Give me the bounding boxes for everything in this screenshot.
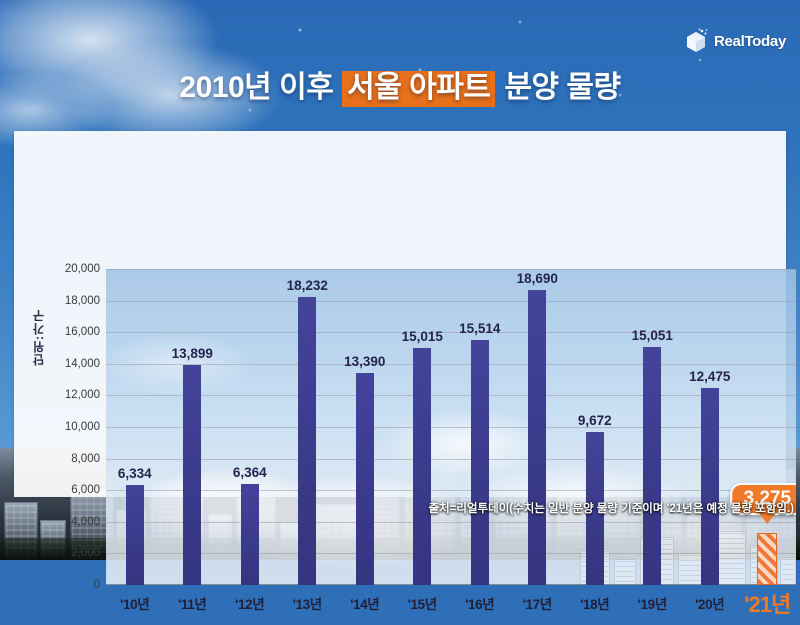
- bar-slot: 15,015: [394, 269, 452, 585]
- bar-value-label: 15,514: [459, 321, 500, 336]
- bar[interactable]: [241, 484, 259, 585]
- bar-slot: 6,364: [221, 269, 279, 585]
- bar-projected[interactable]: [757, 533, 777, 585]
- bar-slot: 18,232: [279, 269, 337, 585]
- bar-slot: 15,514: [451, 269, 509, 585]
- x-axis-tick: '16년: [465, 593, 494, 613]
- bar[interactable]: [471, 340, 489, 585]
- bar[interactable]: [298, 297, 316, 585]
- y-axis-tick: 14,000: [65, 358, 100, 370]
- title-text-0: 2010년 이후: [179, 71, 341, 104]
- bar-slot: 6,334: [106, 269, 164, 585]
- bar-value-label: 15,051: [632, 328, 673, 343]
- bar[interactable]: [126, 485, 144, 585]
- title-text-2: 분양 물량: [496, 71, 620, 104]
- x-axis-tick: '20년: [695, 593, 724, 613]
- x-axis-tick-labels: '10년'11년'12년'13년'14년'15년'16년'17년'18년'19년…: [106, 587, 796, 625]
- x-axis-tick: '14년: [350, 593, 379, 613]
- bar-value-label: 12,475: [689, 369, 730, 384]
- x-axis-tick: '13년: [293, 593, 322, 613]
- y-axis-tick: 18,000: [65, 295, 100, 307]
- y-axis-tick: 16,000: [65, 326, 100, 338]
- bar-value-label: 6,364: [233, 465, 267, 480]
- y-axis-tick: 20,000: [65, 263, 100, 275]
- header: RealToday 2010년 이후 서울 아파트 분양 물량: [0, 0, 800, 130]
- bar-value-label: 9,672: [578, 413, 612, 428]
- x-axis-tick: '15년: [408, 593, 437, 613]
- chart-panel: 단위:가구 20,00018,00016,00014,00012,00010,0…: [14, 131, 786, 497]
- bar-slot: 9,672: [566, 269, 624, 585]
- bar[interactable]: [356, 373, 374, 585]
- bar[interactable]: [643, 347, 661, 585]
- x-axis-tick: '12년: [235, 593, 264, 613]
- bar-value-label: 18,232: [287, 278, 328, 293]
- y-axis-tick: 8,000: [71, 453, 100, 465]
- y-axis-tick-labels: 20,00018,00016,00014,00012,00010,0008,00…: [40, 269, 100, 585]
- y-axis-tick: 12,000: [65, 389, 100, 401]
- x-axis-tick: '17년: [523, 593, 552, 613]
- bar-slot: 13,390: [336, 269, 394, 585]
- x-axis-tick: '10년: [120, 593, 149, 613]
- bar-value-label: 6,334: [118, 466, 152, 481]
- bar-value-label: 18,690: [517, 271, 558, 286]
- bar[interactable]: [183, 365, 201, 585]
- y-axis-tick: 0: [94, 579, 100, 591]
- bar[interactable]: [528, 290, 546, 585]
- brand-logo: RealToday: [685, 28, 786, 54]
- bar-value-label: 13,390: [344, 354, 385, 369]
- bar-slot: 18,690: [509, 269, 567, 585]
- bar-value-label: 15,015: [402, 329, 443, 344]
- logo-wordmark: RealToday: [714, 33, 786, 50]
- x-axis-tick: '18년: [580, 593, 609, 613]
- source-note: 출처=리얼투데이(수치는 일반 분양 물량 기준이며 '21년은 예정 물량 포…: [429, 500, 794, 516]
- bar[interactable]: [701, 388, 719, 585]
- x-axis-tick: '11년: [178, 593, 206, 613]
- bar-slot: 3,275: [739, 269, 797, 585]
- bar[interactable]: [413, 348, 431, 585]
- y-axis-tick: 10,000: [65, 421, 100, 433]
- y-axis-tick: 4,000: [71, 516, 100, 528]
- plot-area: 6,33413,8996,36418,23213,39015,01515,514…: [106, 269, 796, 585]
- bar-value-label: 13,899: [172, 346, 213, 361]
- y-axis-tick: 2,000: [71, 547, 100, 559]
- bar-slot: 12,475: [681, 269, 739, 585]
- y-axis-tick: 6,000: [71, 484, 100, 496]
- bar-series: 6,33413,8996,36418,23213,39015,01515,514…: [106, 269, 796, 585]
- bar-slot: 13,899: [164, 269, 222, 585]
- cube-logo-icon: [685, 28, 709, 54]
- x-axis-tick: '21년: [744, 587, 790, 619]
- title-highlight-1: 서울 아파트: [342, 71, 495, 107]
- bar-slot: 15,051: [624, 269, 682, 585]
- page-title: 2010년 이후 서울 아파트 분양 물량: [0, 62, 800, 107]
- x-axis-tick: '19년: [638, 593, 667, 613]
